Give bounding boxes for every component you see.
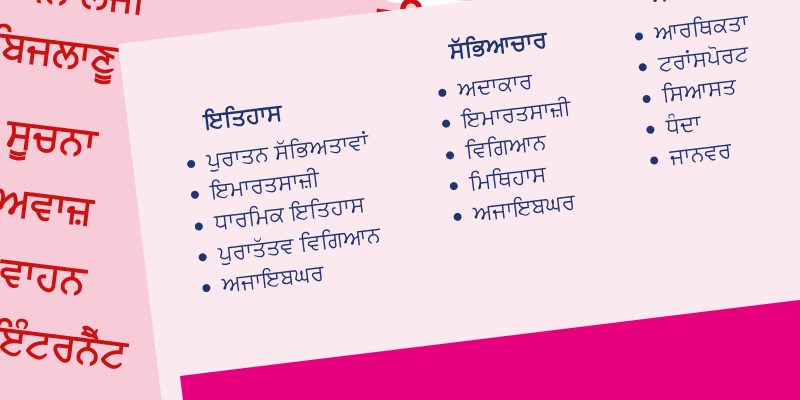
topic-list: ਅਦਾਕਾਰ ਇਮਾਰਤਸਾਜ਼ੀ ਵਿਗਿਆਨ ਮਿਥਿਹਾਸ ਅਜਾਇਬਘਰ [434,51,661,232]
topic-column-society: ਸਮਾਜ ਆਰਥਿਕਤਾ ਟਰਾਂਸਪੋਰਟ ਸਿਆਸਤ ਧੰਦਾ ਜਾਨਵਰ [626,0,800,175]
bullet-icon [438,89,447,98]
topic-column-culture: ਸੱਭਿਆਚਾਰ ਅਦਾਕਾਰ ਇਮਾਰਤਸਾਜ਼ੀ ਵਿਗਿਆਨ ਮਿਥਿਹਾ… [430,14,662,231]
poster-clip: ਈ ਤਕਨਾਲੋਜੀ ਬਿਜਲਾਣੂ ਤਕਨਾਲੋਜੀ ਸੂਚਨਾ ਅਵਾਜ਼ … [0,0,800,400]
list-item-label: ਧੰਦਾ [665,109,703,138]
bullet-icon [194,222,203,231]
bullet-icon [646,125,655,134]
bullet-icon [446,151,455,160]
bullet-icon [453,213,462,222]
bullet-icon [202,284,211,293]
poster-canvas: ਈ ਤਕਨਾਲੋਜੀ ਬਿਜਲਾਣੂ ਤਕਨਾਲੋਜੀ ਸੂਚਨਾ ਅਵਾਜ਼ … [0,0,800,400]
bullet-icon [198,253,207,262]
bullet-icon [650,156,659,165]
bullet-icon [442,120,451,129]
bullet-icon [638,63,647,72]
topic-column-history: ਇਤਿਹਾਸ ਪੁਰਾਤਨ ਸੱਭਿਅਤਾਵਾਂ ਇਮਾਰਤਸਾਜ਼ੀ ਧਾਰਮ… [179,79,461,302]
bullet-icon [187,160,196,169]
bullet-icon [191,191,200,200]
bullet-icon [642,94,651,103]
list-item-label: ਜਾਨਵਰ [668,137,732,169]
topic-list: ਆਰਥਿਕਤਾ ਟਰਾਂਸਪੋਰਟ ਸਿਆਸਤ ਧੰਦਾ ਜਾਨਵਰ [631,0,800,175]
bullet-icon [449,182,458,191]
bullet-icon [635,32,644,41]
topic-list: ਪੁਰਾਤਨ ਸੱਭਿਅਤਾਵਾਂ ਇਮਾਰਤਸਾਜ਼ੀ ਧਾਰਮਿਕ ਇਤਿਹ… [183,116,460,303]
